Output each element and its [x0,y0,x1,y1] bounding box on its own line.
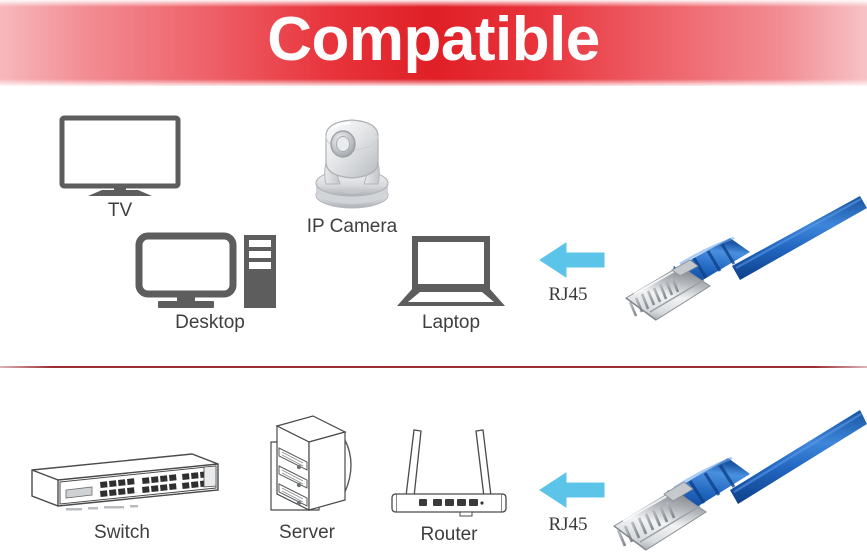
device-label-switch: Switch [22,522,222,544]
header-banner: Compatible [0,0,867,86]
device-label-desktop: Desktop [136,312,284,334]
tv-icon [40,116,200,198]
device-laptop: Laptop [395,236,507,334]
device-router: Router [388,422,510,546]
device-label-ip-camera: IP Camera [282,216,422,238]
arrow-left-icon [518,238,618,282]
device-label-laptop: Laptop [395,312,507,334]
device-label-tv: TV [40,200,200,222]
laptop-icon [395,236,507,310]
connector-rj45-upper: RJ45 [518,238,618,306]
device-switch: Switch [22,442,222,544]
device-desktop: Desktop [136,232,284,334]
rj45-cable-icon-lower [600,404,867,558]
device-tv: TV [40,116,200,222]
network-switch-icon [22,442,222,520]
connector-label-rj45-upper: RJ45 [518,284,618,306]
section-divider [0,366,867,368]
page-title: Compatible [0,0,867,86]
device-label-router: Router [388,524,510,546]
compatibility-diagram-page: Compatible TV [0,0,867,558]
ip-camera-icon [282,112,422,214]
rj45-cable-icon-upper [614,194,867,328]
device-ip-camera: IP Camera [282,112,422,238]
device-server: Server [253,412,361,544]
desktop-computer-icon [136,232,284,310]
server-rack-icon [253,412,361,520]
wifi-router-icon [388,422,510,522]
device-label-server: Server [253,522,361,544]
